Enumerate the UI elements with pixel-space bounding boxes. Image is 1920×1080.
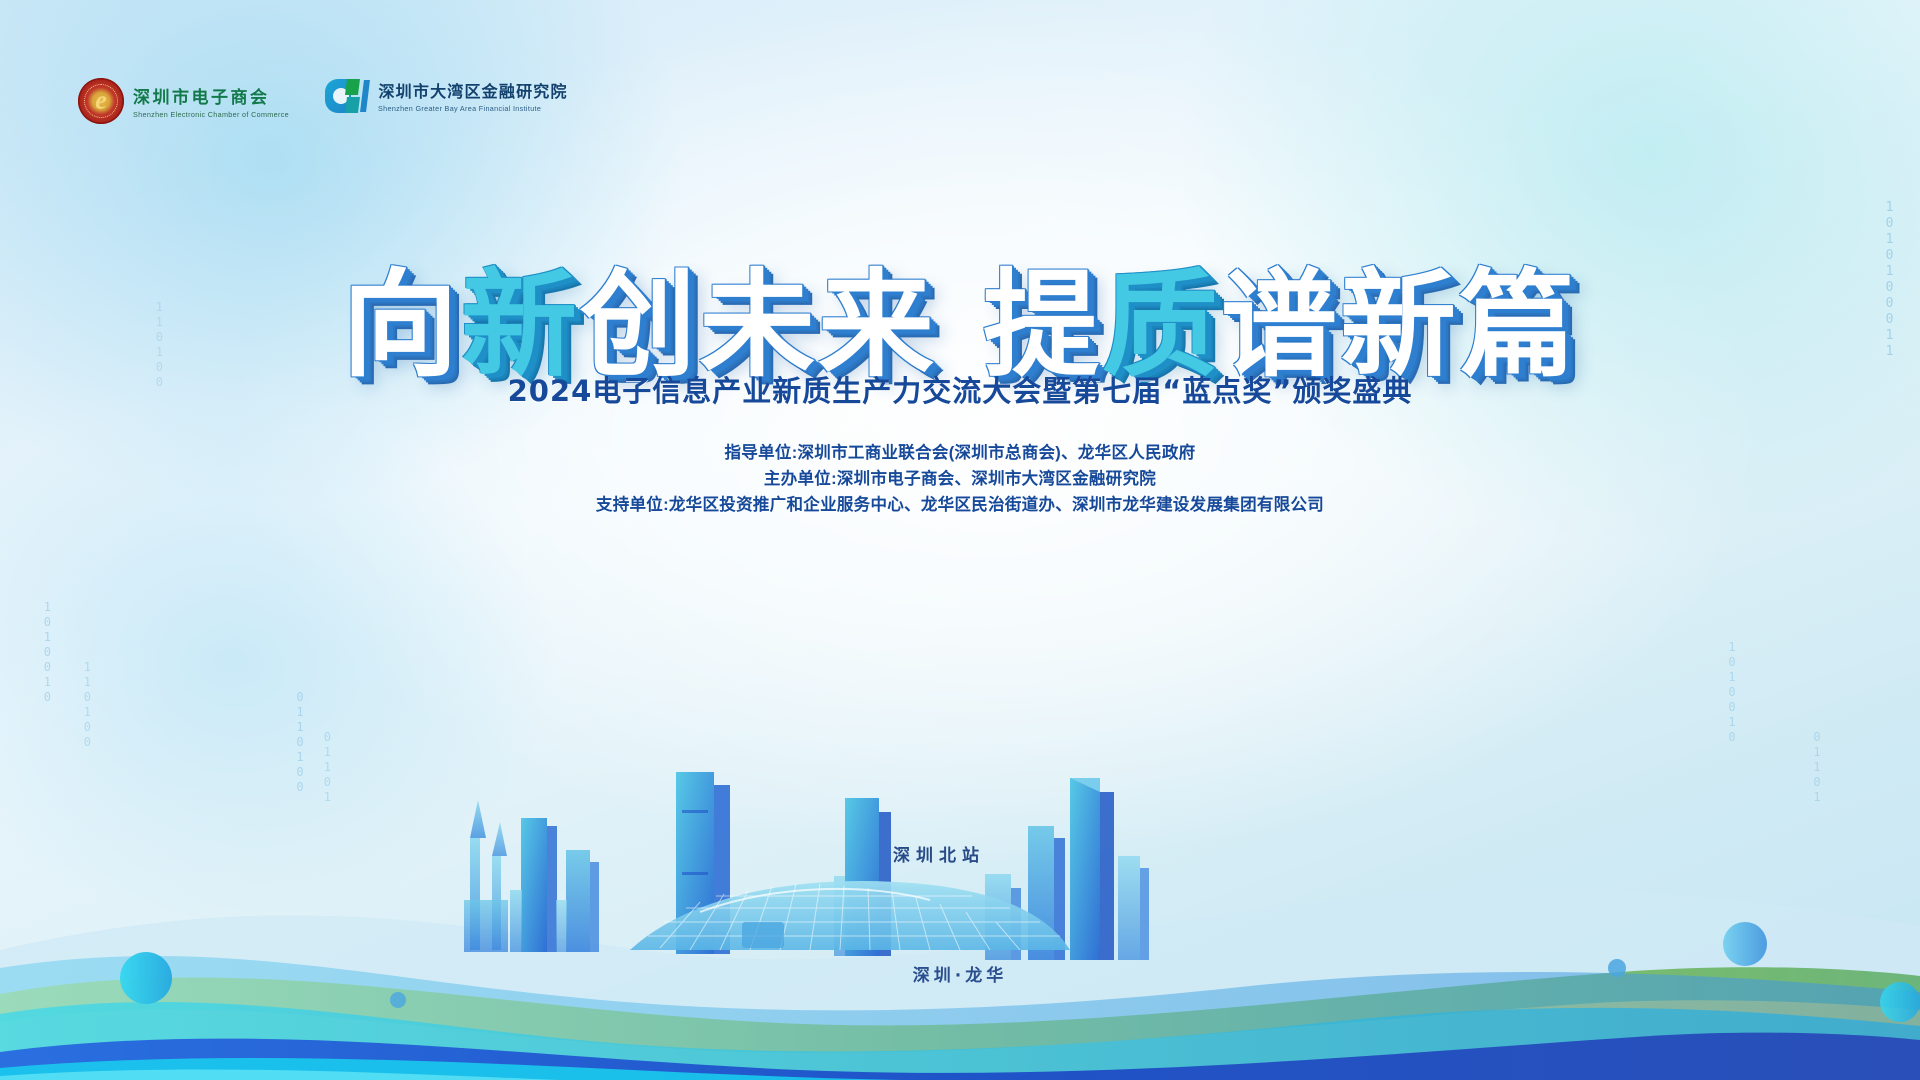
sphere-far-right — [1880, 982, 1920, 1022]
city-label: 深圳·龙华 — [0, 961, 1920, 986]
building-cluster-left — [464, 800, 508, 952]
gbi-block-lower — [345, 97, 360, 113]
sphere-left-small — [390, 992, 406, 1008]
seal-mark: e — [78, 87, 124, 113]
gbi-bar — [361, 80, 371, 112]
hero-subtitle: 2024电子信息产业新质生产力交流大会暨第七届“蓝点奖”颁奖盛典 — [0, 368, 1920, 410]
logo-text-block: 深圳市电子商会 Shenzhen Electronic Chamber of C… — [133, 83, 295, 119]
station-label: 深圳北站 — [893, 841, 985, 866]
logo-name-cn: 深圳市大湾区金融研究院 — [378, 78, 567, 102]
logo-text-block: 深圳市大湾区金融研究院 Shenzhen Greater Bay Area Fi… — [378, 78, 567, 113]
logo-name-en: Shenzhen Greater Bay Area Financial Inst… — [378, 104, 560, 113]
organizer-line-host: 主办单位:深圳市电子商会、深圳市大湾区金融研究院 — [0, 466, 1920, 492]
building-pingan-tower — [510, 818, 557, 952]
poster-canvas: e 深圳市电子商会 Shenzhen Electronic Chamber of… — [0, 0, 1920, 1080]
organizer-block: 指导单位:深圳市工商业联合会(深圳市总商会)、龙华区人民政府 主办单位:深圳市电… — [0, 440, 1920, 518]
hero-title: 向新创未来提质谱新篇 — [342, 268, 1578, 384]
logo-name-en: Shenzhen Electronic Chamber of Commerce — [133, 110, 289, 119]
logo-bar: e 深圳市电子商会 Shenzhen Electronic Chamber of… — [78, 78, 568, 124]
logo-name-cn: 深圳市电子商会 — [133, 83, 295, 108]
gbi-block-upper — [345, 79, 360, 95]
hero-title-wrap: 向新创未来提质谱新篇 — [0, 268, 1920, 384]
logo-gba-financial-institute: 深圳市大湾区金融研究院 Shenzhen Greater Bay Area Fi… — [325, 78, 567, 113]
sphere-right — [1723, 922, 1767, 966]
building-midrise-left — [556, 850, 599, 952]
gbi-monogram-icon — [325, 79, 369, 113]
logo-shenzhen-electronic-chamber: e 深圳市电子商会 Shenzhen Electronic Chamber of… — [78, 78, 295, 124]
organizer-line-support: 支持单位:龙华区投资推广和企业服务中心、龙华区民治街道办、深圳市龙华建设发展集团… — [0, 492, 1920, 518]
seal-emblem-icon: e — [78, 78, 124, 124]
organizer-line-guidance: 指导单位:深圳市工商业联合会(深圳市总商会)、龙华区人民政府 — [0, 440, 1920, 466]
